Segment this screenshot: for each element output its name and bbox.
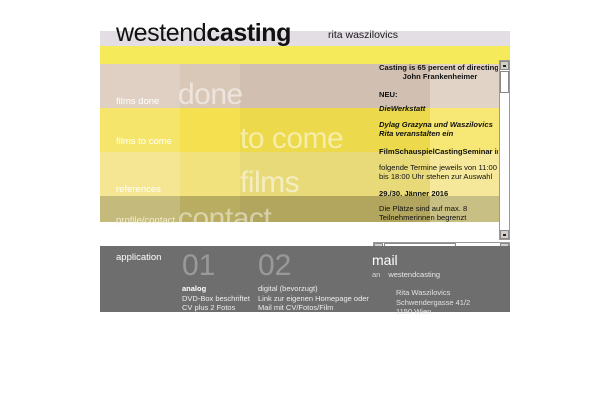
neu-label: NEU: bbox=[379, 90, 498, 99]
ghost-word-contact: contact bbox=[178, 204, 271, 234]
logo-westend: westend bbox=[116, 19, 206, 47]
content-panel: Casting is 65 percent of directing. John… bbox=[373, 60, 510, 252]
organisers-text: Dylag Grazyna und Waszilovics Rita veran… bbox=[379, 120, 498, 139]
termine-text: folgende Termine jeweils von 11:00 bis 1… bbox=[379, 163, 498, 182]
site-tagline: rita waszilovics bbox=[328, 28, 398, 42]
analog-title: analog bbox=[182, 284, 206, 293]
page-root: westendcasting rita waszilovics done to … bbox=[0, 0, 600, 400]
address-street: Schwendergasse 41/2 bbox=[396, 298, 470, 307]
content-panel-viewport: Casting is 65 percent of directing. John… bbox=[373, 60, 498, 240]
application-option-digital: digital (bevorzugt) Link zur eigenen Hom… bbox=[258, 284, 369, 313]
analog-line1: DVD-Box beschriftet bbox=[182, 294, 250, 303]
mail-recipient-line: anwestendcasting bbox=[372, 270, 440, 280]
site-header: westendcasting rita waszilovics bbox=[100, 20, 510, 46]
nav-item-references[interactable]: references bbox=[116, 184, 161, 196]
digital-line1: Link zur eigenen Homepage oder bbox=[258, 294, 369, 303]
site-wrapper: westendcasting rita waszilovics done to … bbox=[100, 20, 510, 312]
nav-item-profile-contact[interactable]: profile/contact bbox=[116, 215, 175, 227]
quote-author: John Frankenheimer bbox=[403, 72, 478, 81]
big-number-02: 02 bbox=[258, 251, 291, 281]
postal-address: Rita Waszilovics Schwendergasse 41/2 115… bbox=[396, 288, 470, 317]
werkstatt-title: DieWerkstatt bbox=[379, 104, 498, 113]
mail-an-label: an bbox=[372, 270, 380, 279]
vertical-scrollbar[interactable] bbox=[499, 60, 510, 240]
address-name: Rita Waszilovics bbox=[396, 288, 450, 297]
address-city: 1150 Wien bbox=[396, 307, 431, 316]
nav-item-films-to-come[interactable]: films to come bbox=[116, 136, 172, 148]
seminar-date: 29./30. Jänner 2016 bbox=[379, 189, 498, 198]
application-option-analog: analog DVD-Box beschriftet CV plus 2 Fot… bbox=[182, 284, 250, 313]
ghost-word-done: done bbox=[178, 80, 243, 110]
vertical-scroll-thumb[interactable] bbox=[500, 71, 509, 93]
mail-heading: mail bbox=[372, 252, 398, 268]
plaetze-text: Die Plätze sind auf max. 8 Teilnehmerinn… bbox=[379, 204, 498, 223]
site-logo[interactable]: westendcasting bbox=[116, 20, 291, 46]
ghost-word-films: films bbox=[240, 168, 299, 198]
nav-item-application[interactable]: application bbox=[116, 252, 161, 264]
quote-text: Casting is 65 percent of directing. bbox=[379, 63, 498, 72]
site-footer: application 01 02 analog DVD-Box beschri… bbox=[100, 246, 510, 312]
logo-casting: casting bbox=[206, 19, 291, 47]
digital-title: digital (bevorzugt) bbox=[258, 284, 318, 293]
nav-item-films-done[interactable]: films done bbox=[116, 96, 159, 108]
big-number-01: 01 bbox=[182, 251, 215, 281]
scroll-down-arrow-icon[interactable] bbox=[500, 230, 509, 239]
ghost-word-to-come: to come bbox=[240, 124, 343, 154]
content-text: Casting is 65 percent of directing. John… bbox=[373, 60, 498, 223]
digital-line2: Mail mit CV/Fotos/Film bbox=[258, 303, 333, 312]
quote-block: Casting is 65 percent of directing. John… bbox=[379, 63, 498, 82]
analog-line2: CV plus 2 Fotos bbox=[182, 303, 235, 312]
scroll-up-arrow-icon[interactable] bbox=[500, 61, 509, 70]
mail-target[interactable]: westendcasting bbox=[388, 270, 440, 280]
seminar-title: FilmSchauspielCastingSeminar in Wien bbox=[379, 147, 498, 156]
